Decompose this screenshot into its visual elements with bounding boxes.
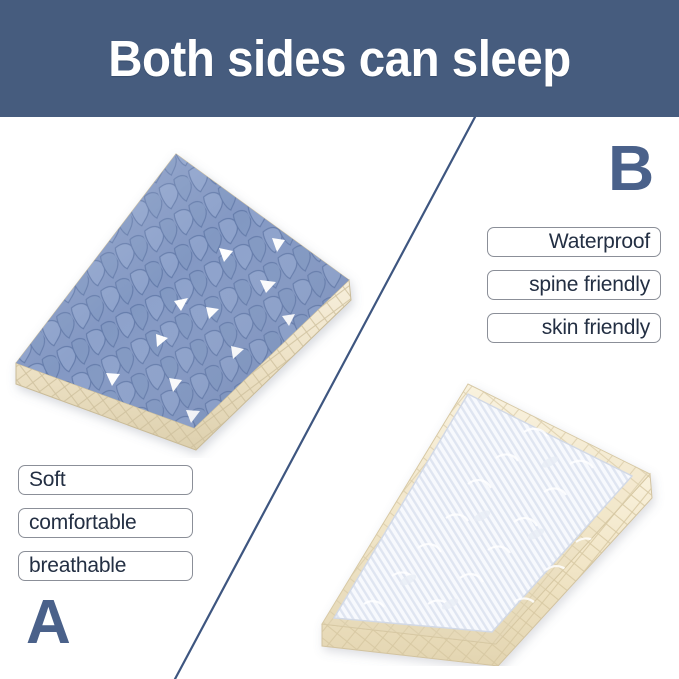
feature-label: Waterproof [549,230,650,254]
feature-box-b-waterproof: Waterproof [487,227,661,257]
feature-label: breathable [29,554,126,578]
feature-box-b-spine-friendly: spine friendly [487,270,661,300]
feature-box-a-comfortable: comfortable [18,508,193,538]
feature-box-a-soft: Soft [18,465,193,495]
white-mattress-body [322,384,652,666]
mattress-b-image [300,366,679,666]
feature-label: spine friendly [529,273,650,297]
page-title: Both sides can sleep [24,0,655,117]
mattress-b-shading [322,384,650,644]
side-label-a: A [26,592,71,654]
feature-label: comfortable [29,511,137,535]
side-label-b: B [608,136,654,200]
feature-box-b-skin-friendly: skin friendly [487,313,661,343]
white-mattress-illustration [300,366,679,666]
product-infographic: Both sides can sleep [0,0,679,679]
feature-label: Soft [29,468,66,492]
feature-label: skin friendly [542,316,650,340]
feature-box-a-breathable: breathable [18,551,193,581]
